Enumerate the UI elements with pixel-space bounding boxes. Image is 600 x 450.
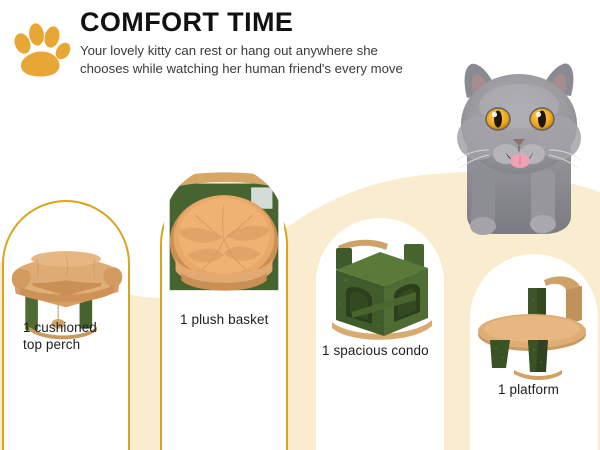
product-card-platform[interactable]: 1 platform <box>470 254 598 450</box>
product-caption: 1 plush basket <box>180 312 268 329</box>
product-card-cushioned-top-perch[interactable]: 1 cushioned top perch <box>2 200 130 450</box>
subtitle-line-1: Your lovely kitty can rest or hang out a… <box>80 42 470 59</box>
product-card-spacious-condo[interactable]: 1 spacious condo <box>316 218 444 450</box>
spacious-condo-photo <box>316 226 444 354</box>
caption-line-1: 1 spacious condo <box>322 343 429 360</box>
header: COMFORT TIME Your lovely kitty can rest … <box>0 0 600 108</box>
caption-line-1: 1 plush basket <box>180 312 268 329</box>
product-caption: 1 platform <box>498 382 559 399</box>
infographic-canvas: COMFORT TIME Your lovely kitty can rest … <box>0 0 600 450</box>
product-caption: 1 spacious condo <box>322 343 429 360</box>
paw-print-icon <box>10 18 72 80</box>
caption-line-1: 1 platform <box>498 382 559 399</box>
plush-basket-photo <box>162 164 286 299</box>
platform-photo <box>470 264 598 386</box>
page-title: COMFORT TIME <box>80 8 470 37</box>
caption-line-1: 1 cushioned <box>23 320 97 337</box>
caption-line-2: top perch <box>23 337 97 354</box>
subtitle-line-2: chooses while watching her human friend'… <box>80 60 470 77</box>
product-card-plush-basket[interactable]: 1 plush basket <box>160 180 288 450</box>
product-caption: 1 cushioned top perch <box>23 320 97 353</box>
header-text-block: COMFORT TIME Your lovely kitty can rest … <box>80 8 470 77</box>
page-subtitle: Your lovely kitty can rest or hang out a… <box>80 42 470 77</box>
